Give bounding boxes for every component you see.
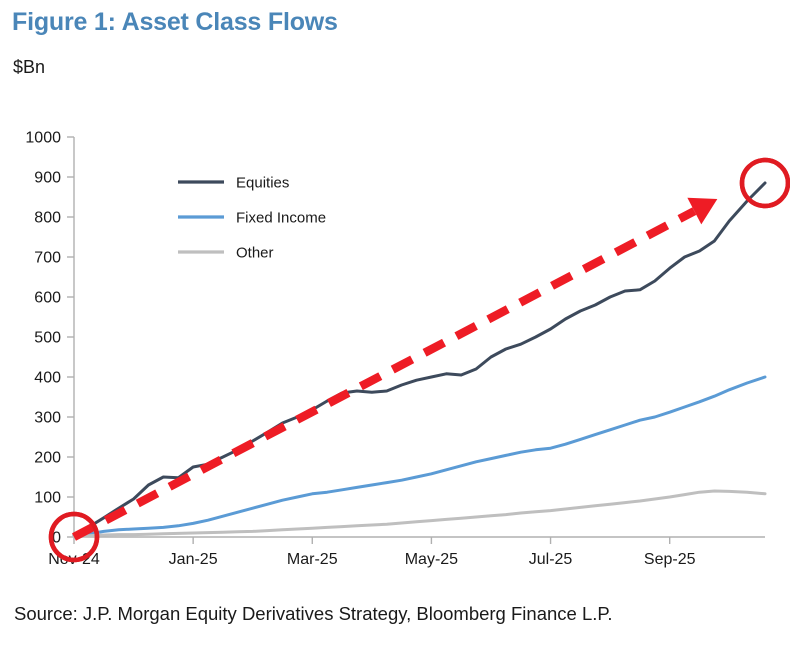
y-tick-label: 600 [34,290,61,307]
y-tick-label: 500 [34,330,61,347]
x-tick-label: Mar-25 [287,551,338,568]
y-tick-label: 1000 [25,130,61,147]
y-axis-tick-group: 01002003004005006007008009001000 [25,130,74,547]
series-line-other [74,491,765,537]
y-tick-label: 800 [34,210,61,227]
chart-legend: EquitiesFixed IncomeOther [178,175,326,262]
y-tick-label: 900 [34,170,61,187]
y-tick-label: 400 [34,370,61,387]
source-note: Source: J.P. Morgan Equity Derivatives S… [14,603,612,625]
figure-container: Figure 1: Asset Class Flows $Bn 01002003… [0,0,790,647]
x-tick-label: Jan-25 [169,551,218,568]
legend-label-other: Other [236,245,274,262]
y-tick-label: 300 [34,410,61,427]
annotation-group [51,160,788,560]
series-line-fixed-income [74,377,765,536]
x-tick-label: May-25 [405,551,458,568]
line-chart: 01002003004005006007008009001000 Nov-24J… [0,0,790,600]
annotation-arrow-shaft-uptrend-arrow [74,211,694,537]
y-tick-label: 100 [34,490,61,507]
x-tick-label: Sep-25 [644,551,696,568]
legend-label-fixed-income: Fixed Income [236,210,326,227]
x-axis-tick-group: Nov-24Jan-25Mar-25May-25Jul-25Sep-25 [48,537,695,568]
x-tick-label: Jul-25 [529,551,573,568]
legend-label-equities: Equities [236,175,289,192]
y-tick-label: 700 [34,250,61,267]
y-tick-label: 200 [34,450,61,467]
